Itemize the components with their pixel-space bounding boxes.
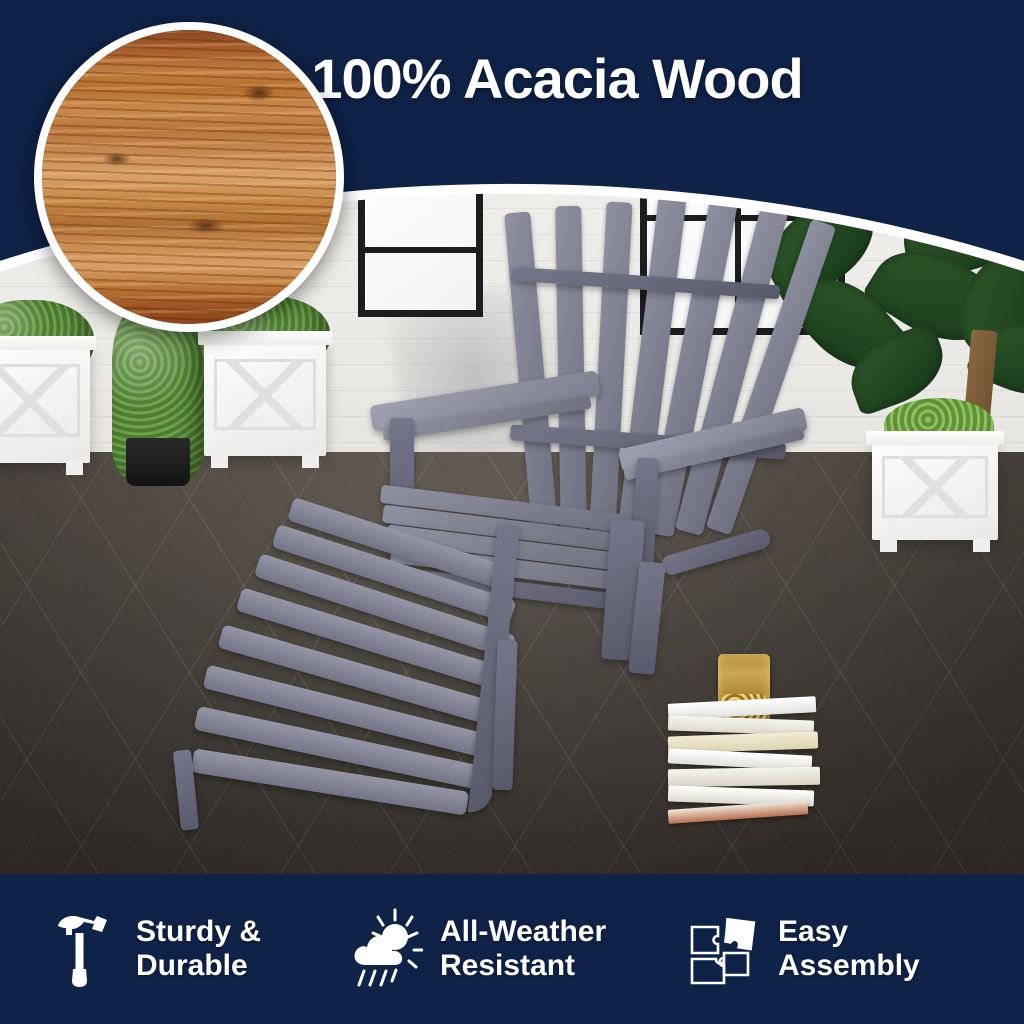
planter-rim <box>198 331 332 345</box>
feature-label-line1: Easy <box>778 915 848 948</box>
feature-label: Easy Assembly <box>778 915 920 983</box>
planter-rim <box>866 431 1005 445</box>
planter-leg <box>66 461 83 475</box>
planter-leg <box>880 538 898 552</box>
ottoman-footrest <box>165 520 585 840</box>
feature-sturdy-durable: Sturdy & Durable <box>0 907 340 991</box>
wood-grain-texture <box>42 30 336 324</box>
feature-label-line2: Durable <box>136 949 248 982</box>
white-planter <box>204 340 326 456</box>
marketing-image: 100% Acacia Wood Sturdy & Durable <box>0 0 1024 1024</box>
feature-all-weather-resistant: All-Weather Resistant <box>340 907 680 991</box>
planter-leg <box>302 454 319 468</box>
feature-label-line2: Resistant <box>440 949 575 982</box>
planter-leg <box>211 454 228 468</box>
white-planter <box>0 345 90 463</box>
feature-label: All-Weather Resistant <box>440 915 606 983</box>
planter-rim <box>0 336 96 350</box>
feature-label-line1: All-Weather <box>440 915 606 948</box>
white-planter <box>872 440 998 540</box>
feature-bar: Sturdy & Durable <box>0 874 1024 1024</box>
weather-icon <box>348 907 424 991</box>
acacia-wood-swatch <box>34 22 344 332</box>
feature-label: Sturdy & Durable <box>136 915 261 983</box>
black-pot <box>126 438 190 486</box>
planter-leg <box>973 538 991 552</box>
feature-easy-assembly: Easy Assembly <box>680 907 1020 991</box>
puzzle-icon <box>686 907 762 991</box>
hammer-icon <box>44 907 120 991</box>
book-stack <box>668 700 818 830</box>
feature-label-line1: Sturdy & <box>136 915 261 948</box>
feature-label-line2: Assembly <box>778 949 920 982</box>
